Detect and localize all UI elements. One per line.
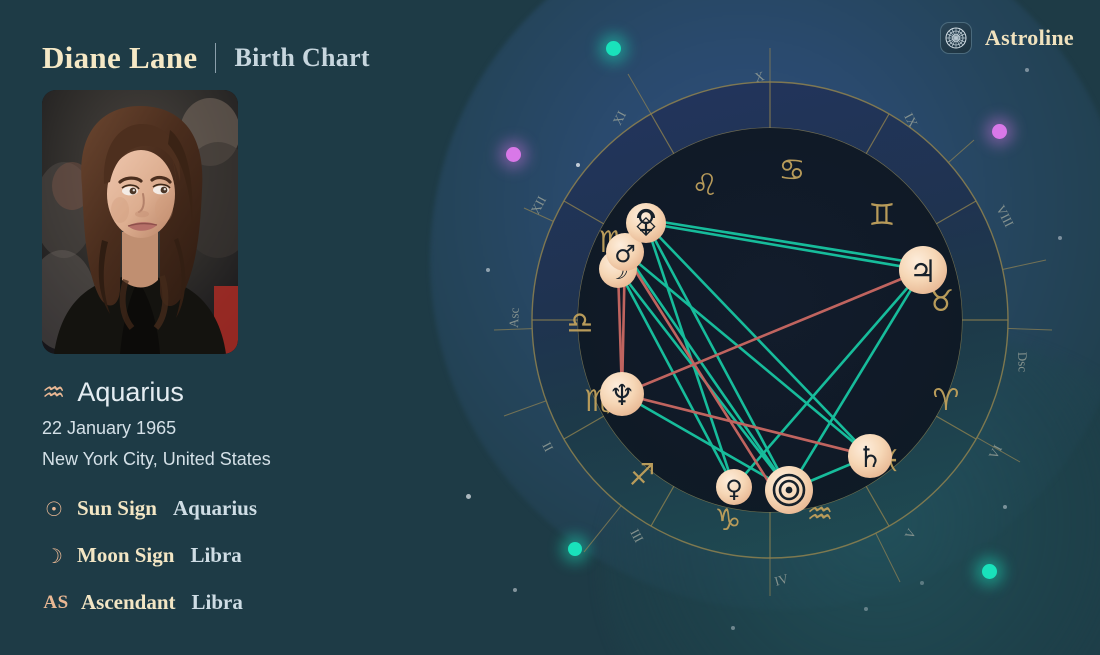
sun-sign-name: Aquarius [77, 377, 184, 408]
svg-text:♂: ♂ [614, 240, 636, 268]
house-label-vi: VI [985, 442, 1005, 461]
ascendant-icon: AS [42, 593, 70, 612]
page-title: Birth Chart [234, 43, 369, 73]
svg-text:♆: ♆ [609, 378, 635, 412]
house-label-iii: III [627, 526, 646, 545]
ascendant-label: Ascendant [81, 590, 176, 615]
page-heading: Diane Lane Birth Chart [42, 40, 370, 76]
planet-marker-venus[interactable]: ♀ [716, 469, 752, 505]
ascendant-value: Libra [192, 590, 243, 615]
svg-text:♀: ♀ [725, 475, 743, 503]
house-label-iv: IV [773, 571, 791, 589]
moon-sign-value: Libra [190, 543, 241, 568]
zodiac-glyph-aquarius: ♒ [807, 497, 834, 532]
house-label-dsc: Dsc [1015, 352, 1031, 373]
birth-place: New York City, United States [42, 449, 271, 470]
zodiac-glyph-leo: ♌ [692, 168, 719, 203]
moon-icon: ☽ [42, 546, 66, 566]
sun-icon: ☉ [42, 499, 66, 519]
house-label-asc: Asc [506, 307, 522, 328]
zodiac-glyph-aries: ♈ [933, 383, 960, 418]
profile-panel: Diane Lane Birth Chart [0, 0, 430, 655]
house-label-v: V [901, 526, 919, 542]
fact-moon-sign: ☽ Moon Sign Libra [42, 543, 242, 568]
house-label-x: X [753, 68, 766, 85]
planet-marker-jupiter[interactable]: ♃ [899, 246, 947, 294]
zodiac-glyph-capricorn: ♑ [715, 503, 742, 538]
sun-sign-label: Sun Sign [77, 496, 157, 521]
person-name: Diane Lane [42, 40, 197, 76]
planet-marker-saturn[interactable]: ♄ [848, 434, 892, 478]
svg-text:♄: ♄ [857, 440, 883, 474]
house-label-viii: VIII [993, 203, 1017, 230]
birth-date: 22 January 1965 [42, 418, 176, 439]
planet-marker-pluto[interactable]: ◇ [626, 203, 666, 243]
fact-ascendant: AS Ascendant Libra [42, 590, 243, 615]
house-label-xi: XI [609, 108, 629, 127]
aquarius-icon: ♒ [42, 380, 65, 406]
house-label-ii: II [539, 439, 556, 454]
svg-text:♃: ♃ [909, 254, 937, 290]
planet-marker-neptune[interactable]: ♆ [600, 372, 644, 416]
zodiac-glyph-libra: ♎ [567, 306, 594, 341]
zodiac-glyph-sagittarius: ♐ [629, 458, 656, 493]
zodiac-glyph-gemini: ♊ [869, 198, 896, 233]
sun-sign-value: Aquarius [173, 496, 257, 521]
birth-chart-wheel[interactable]: ♌ ♋ ♊ ♉ ♈ ♓ ♒ ♑ ♐ ♏ ♎ ♍ X IX VIII Dsc VI… [480, 30, 1060, 610]
title-divider [215, 43, 216, 73]
moon-sign-label: Moon Sign [77, 543, 174, 568]
portrait-photo [42, 90, 238, 354]
sun-sign-headline: ♒ Aquarius [42, 377, 184, 408]
house-label-xii: XII [527, 193, 549, 216]
planet-marker-sun[interactable] [765, 466, 813, 514]
fact-sun-sign: ☉ Sun Sign Aquarius [42, 496, 257, 521]
zodiac-glyph-cancer: ♋ [779, 153, 806, 188]
